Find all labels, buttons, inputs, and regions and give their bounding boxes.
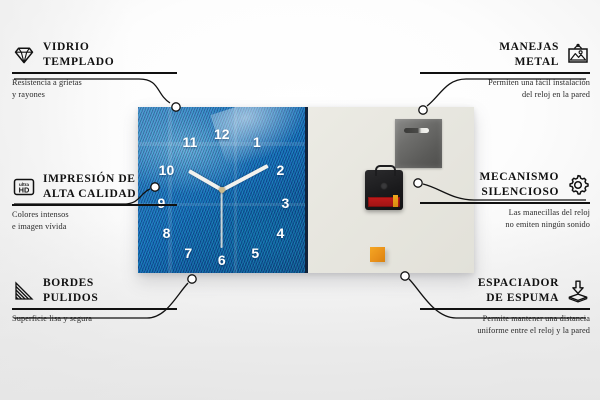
clock-center-cap	[219, 187, 225, 193]
callout-rule	[12, 308, 177, 309]
clock-numeral-1: 1	[253, 135, 261, 149]
callout-subtitle: Resistencia a grietas y rayones	[12, 77, 177, 101]
picture-frame-icon	[566, 43, 590, 67]
ultra-hd-icon: ultra HD	[12, 175, 36, 199]
callout-sub-line2: y rayones	[12, 89, 177, 101]
callout-title-line2: METAL	[499, 55, 559, 70]
callout-impresion-alta-calidad: ultra HD IMPRESIÓN DE ALTA CALIDAD Color…	[12, 172, 177, 232]
callout-header: ultra HD IMPRESIÓN DE ALTA CALIDAD	[12, 172, 177, 201]
callout-espaciador-de-espuma: ESPACIADOR DE ESPUMA Permite mantener un…	[420, 276, 590, 336]
callout-header: MECANISMO SILENCIOSO	[420, 170, 590, 199]
callout-sub-line1: Resistencia a grietas	[12, 77, 177, 89]
leader-dot-bordes	[188, 275, 196, 283]
callout-title-line1: MECANISMO	[479, 170, 559, 185]
callout-subtitle: Las manecillas del reloj no emiten ningú…	[420, 207, 590, 231]
callout-title: VIDRIO TEMPLADO	[43, 40, 114, 69]
callout-bordes-pulidos: BORDES PULIDOS Superficie lisa y segura	[12, 276, 177, 325]
polished-edge-icon	[12, 279, 36, 303]
callout-sub-line1: Colores intensos	[12, 209, 177, 221]
art-pane-line	[138, 142, 305, 146]
callout-sub-line2: del reloj en la pared	[420, 89, 590, 101]
callout-title-line1: VIDRIO	[43, 40, 114, 55]
clock-numeral-3: 3	[281, 196, 289, 210]
callout-title: MECANISMO SILENCIOSO	[479, 170, 559, 199]
mechanism-hanging-loop	[375, 165, 396, 176]
callout-sub-line1: Permiten una fácil instalación	[420, 77, 590, 89]
callout-rule	[420, 308, 590, 309]
callout-title-line2: DE ESPUMA	[478, 291, 559, 306]
callout-sub-line1: Superficie lisa y segura	[12, 313, 177, 325]
callout-header: BORDES PULIDOS	[12, 276, 177, 305]
callout-sub-line1: Las manecillas del reloj	[420, 207, 590, 219]
clock-numeral-4: 4	[276, 226, 284, 240]
gear-icon	[566, 173, 590, 197]
callout-title-line1: BORDES	[43, 276, 98, 291]
callout-rule	[420, 72, 590, 73]
callout-title-line2: SILENCIOSO	[479, 185, 559, 200]
clock-numeral-2: 2	[276, 163, 284, 177]
callout-header: ESPACIADOR DE ESPUMA	[420, 276, 590, 305]
clock-hour-hand	[188, 169, 223, 191]
callout-sub-line2: uniforme entre el reloj y la pared	[420, 325, 590, 337]
diamond-icon	[12, 43, 36, 67]
clock-second-hand	[221, 190, 223, 248]
callout-sub-line2: no emiten ningún sonido	[420, 219, 590, 231]
clock-mechanism-box	[365, 170, 403, 210]
callout-title: MANEJAS METAL	[499, 40, 559, 69]
mechanism-red-label	[368, 197, 400, 207]
callout-rule	[12, 204, 177, 205]
leader-dot-espaciador	[401, 272, 409, 280]
callout-title-line2: PULIDOS	[43, 291, 98, 306]
callout-subtitle: Colores intensos e imagen vívida	[12, 209, 177, 233]
hanger-keyhole-slot	[404, 128, 429, 133]
svg-text:HD: HD	[19, 185, 30, 194]
callout-title-line1: ESPACIADOR	[478, 276, 559, 291]
callout-header: VIDRIO TEMPLADO	[12, 40, 177, 69]
art-pane-line	[234, 107, 237, 273]
foam-spacer-icon	[566, 279, 590, 303]
clock-numeral-5: 5	[251, 246, 259, 260]
callout-sub-line1: Permite mantener una distancia	[420, 313, 590, 325]
callout-header: MANEJAS METAL	[420, 40, 590, 69]
callout-sub-line2: e imagen vívida	[12, 221, 177, 233]
callout-title-line1: IMPRESIÓN DE	[43, 172, 136, 187]
callout-subtitle: Permiten una fácil instalación del reloj…	[420, 77, 590, 101]
callout-title-line2: TEMPLADO	[43, 55, 114, 70]
callout-title-line2: ALTA CALIDAD	[43, 187, 136, 202]
callout-rule	[12, 72, 177, 73]
callout-subtitle: Permite mantener una distancia uniforme …	[420, 313, 590, 337]
clock-numeral-7: 7	[184, 246, 192, 260]
callout-manejas-metal: MANEJAS METAL Permiten una fácil instala…	[420, 40, 590, 100]
callout-title: IMPRESIÓN DE ALTA CALIDAD	[43, 172, 136, 201]
callout-rule	[420, 202, 590, 203]
callout-vidrio-templado: VIDRIO TEMPLADO Resistencia a grietas y …	[12, 40, 177, 100]
foam-spacer-pad	[370, 247, 385, 262]
callout-mecanismo-silencioso: MECANISMO SILENCIOSO Las manecillas del …	[420, 170, 590, 230]
mechanism-shaft	[380, 182, 388, 190]
metal-hanger-plate	[395, 119, 442, 168]
clock-numeral-11: 11	[183, 135, 198, 149]
clock-numeral-12: 12	[214, 127, 230, 141]
clock-numeral-6: 6	[218, 253, 226, 267]
callout-title-line1: MANEJAS	[499, 40, 559, 55]
infographic-canvas: 12 1 2 3 4 5 6 7 8 9 10 11	[0, 0, 600, 400]
callout-title: ESPACIADOR DE ESPUMA	[478, 276, 559, 305]
clock-minute-hand	[221, 164, 269, 192]
callout-title: BORDES PULIDOS	[43, 276, 98, 305]
callout-subtitle: Superficie lisa y segura	[12, 313, 177, 325]
